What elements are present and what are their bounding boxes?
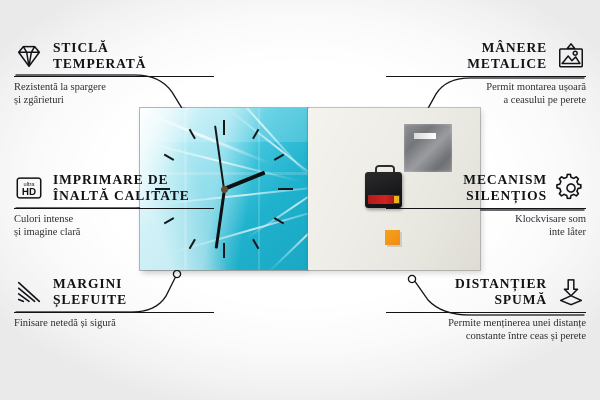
callout-foam-spacer: DISTANȚIER SPUMĂ Permite menținerea unei… <box>386 276 586 344</box>
callout-subtitle: Klockvisare som inte låter <box>386 213 586 240</box>
callout-title: MÂNERE METALICE <box>467 40 547 72</box>
callout-title: IMPRIMARE DE ÎNALTĂ CALITATE <box>53 172 190 204</box>
callout-silent-mechanism: MECANISM SILENȚIOS Klockvisare som inte … <box>386 172 586 240</box>
callout-rule <box>14 312 214 313</box>
callout-rule <box>14 76 214 77</box>
svg-text:HD: HD <box>22 187 36 198</box>
callout-rule <box>386 208 586 209</box>
callout-subtitle: Rezistentă la spargere și zgârieturi <box>14 81 214 108</box>
callout-title: DISTANȚIER SPUMĂ <box>455 276 547 308</box>
clock-hub <box>221 186 228 193</box>
callout-metal-handles: MÂNERE METALICE Permit montarea ușoară a… <box>386 40 586 108</box>
callout-title: STICLĂ TEMPERATĂ <box>53 40 146 72</box>
callout-title: MECANISM SILENȚIOS <box>463 172 547 204</box>
callout-subtitle: Culori intense și imagine clară <box>14 213 214 240</box>
callout-polished-edges: MARGINI ȘLEFUITE Finisare netedă și sigu… <box>14 276 214 330</box>
diamond-icon <box>14 41 44 71</box>
callout-high-quality-print: ultra HD IMPRIMARE DE ÎNALTĂ CALITATE Cu… <box>14 172 214 240</box>
callout-rule <box>386 76 586 77</box>
callout-title: MARGINI ȘLEFUITE <box>53 276 127 308</box>
callout-rule <box>14 208 214 209</box>
callout-subtitle: Finisare netedă și sigură <box>14 317 214 331</box>
callout-subtitle: Permit montarea ușoară a ceasului pe per… <box>386 81 586 108</box>
metal-hanging-plate <box>404 124 452 172</box>
callout-rule <box>386 312 586 313</box>
callout-tempered-glass: STICLĂ TEMPERATĂ Rezistentă la spargere … <box>14 40 214 108</box>
press-down-layer-icon <box>556 277 586 307</box>
ultra-hd-icon: ultra HD <box>14 173 44 203</box>
callout-subtitle: Permite menținerea unei distanțe constan… <box>386 317 586 344</box>
framed-picture-hanger-icon <box>556 41 586 71</box>
gear-icon <box>556 173 586 203</box>
polished-edges-icon <box>14 277 44 307</box>
infographic-canvas: STICLĂ TEMPERATĂ Rezistentă la spargere … <box>0 0 600 400</box>
